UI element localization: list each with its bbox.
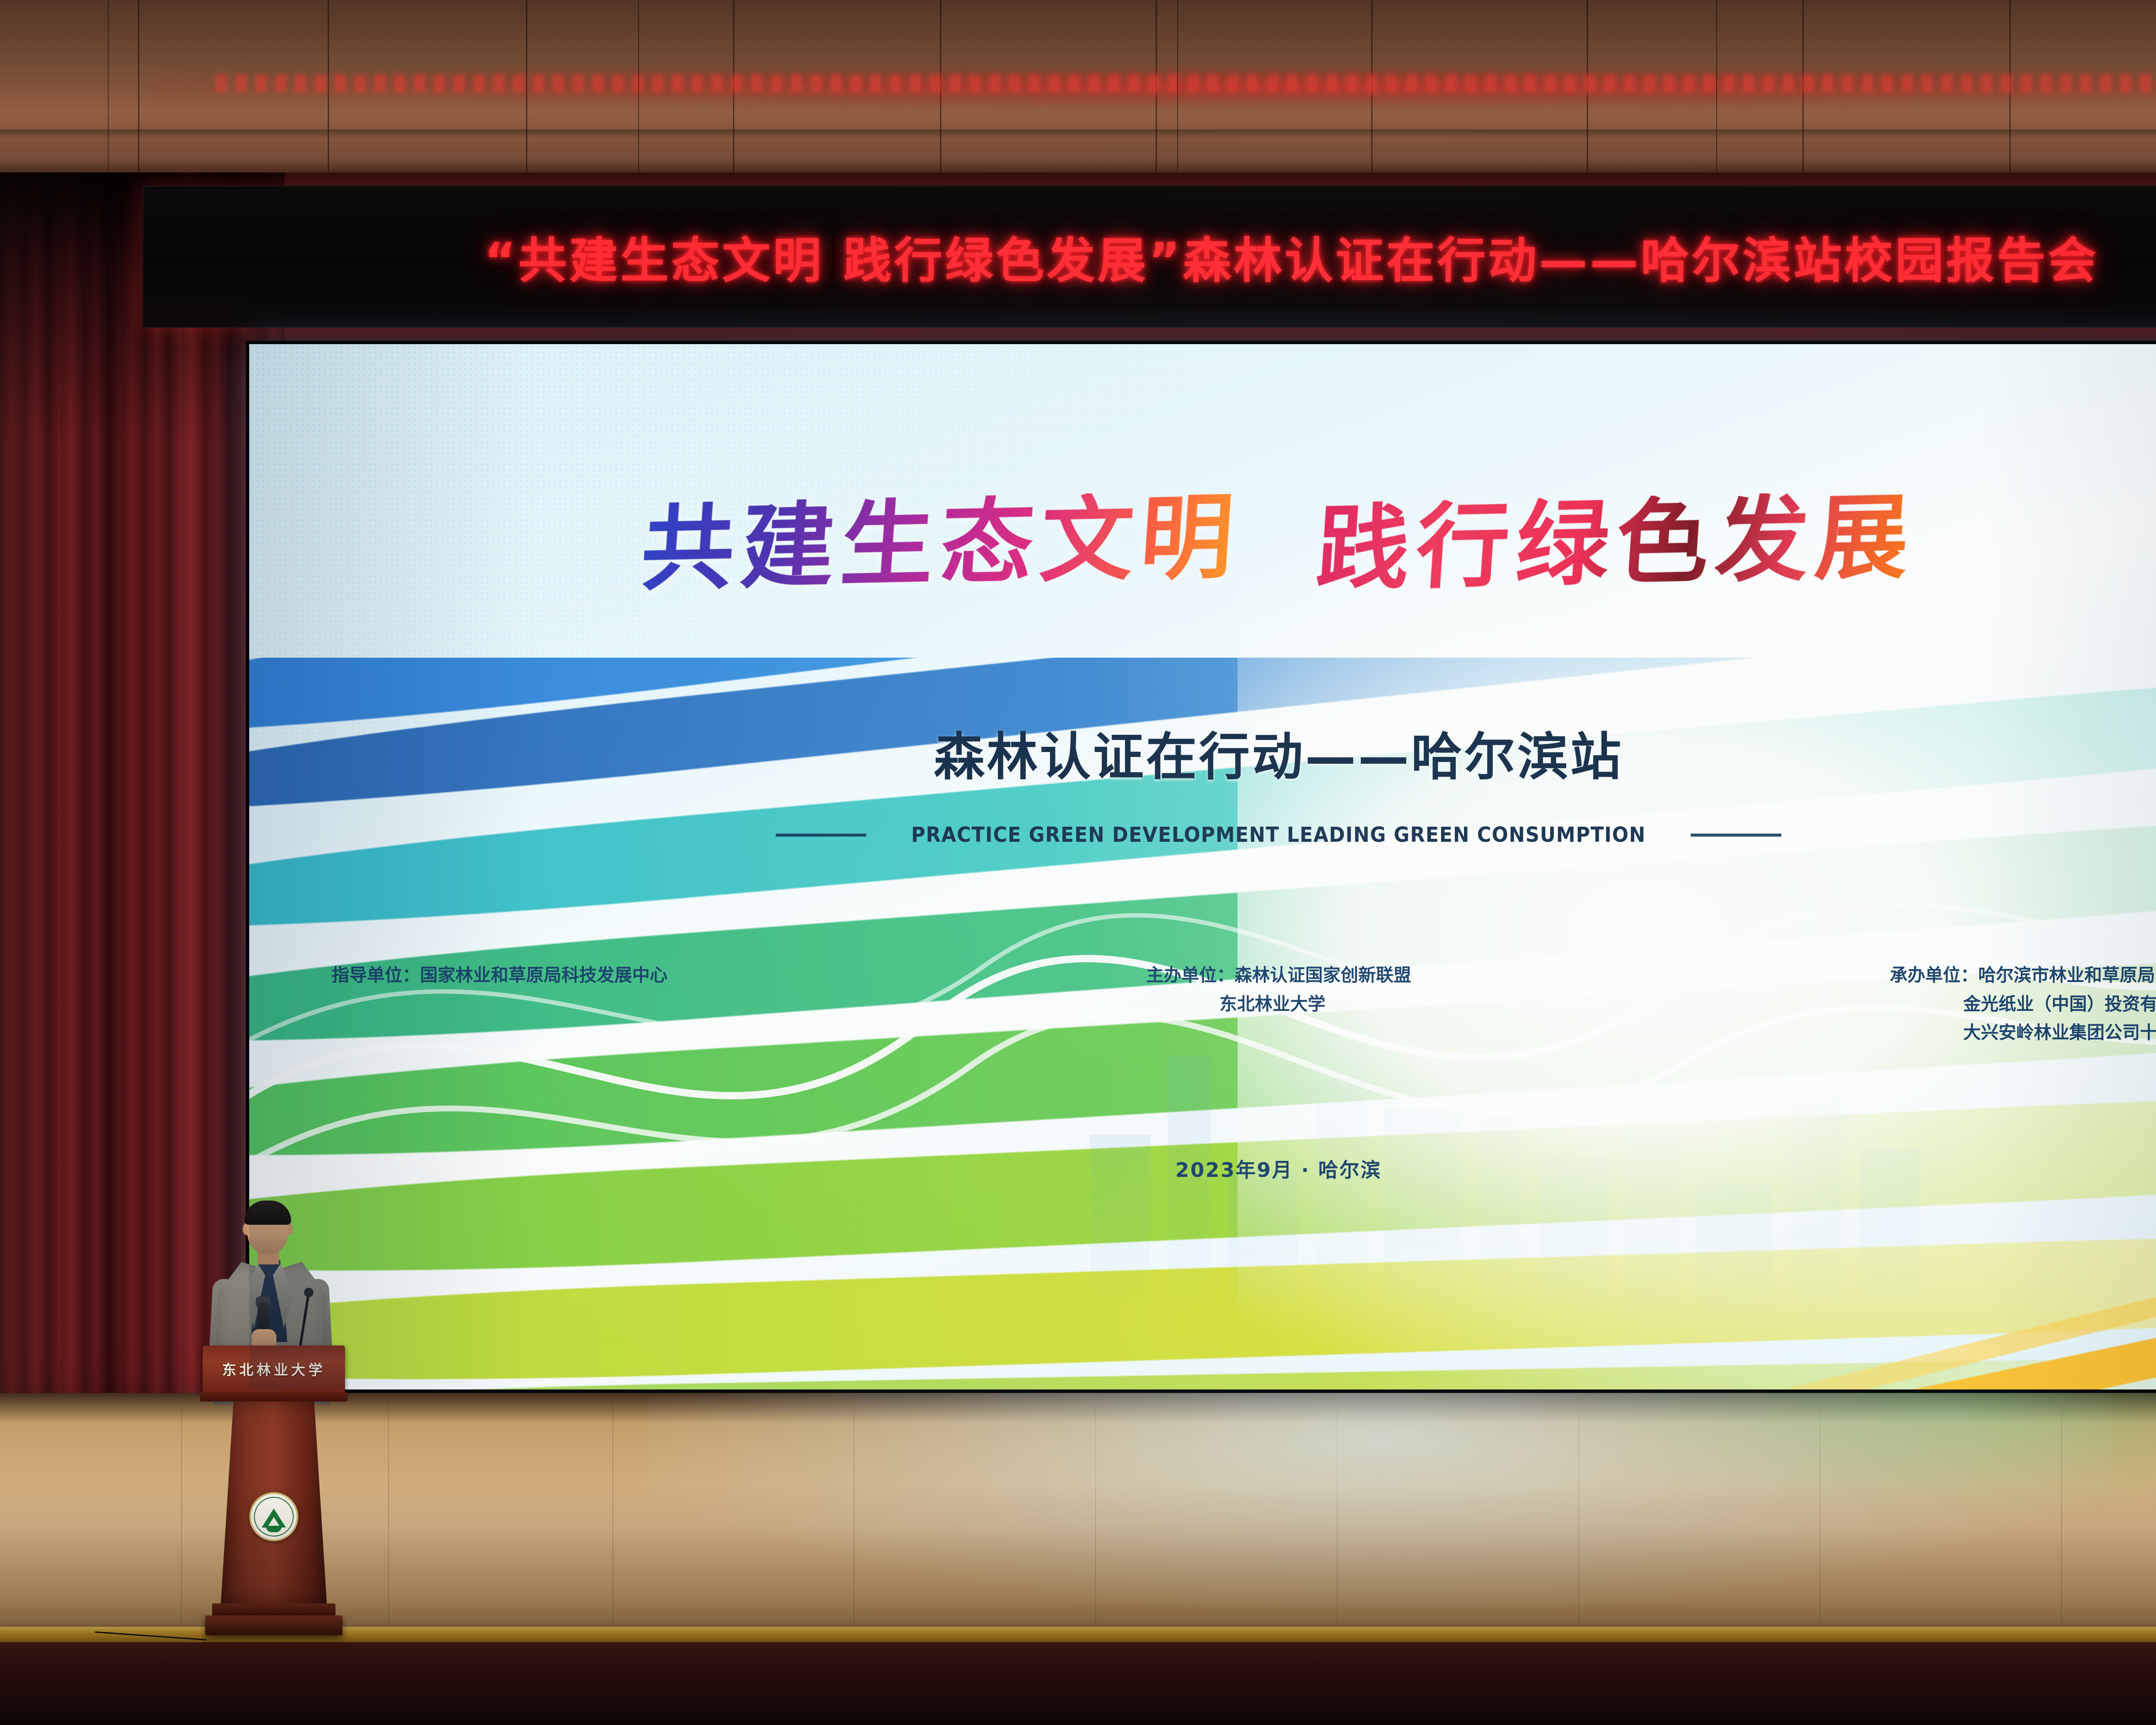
organizer-group-guidance: 指导单位：国家林业和草原局科技发展中心	[332, 961, 667, 989]
ceiling-wood-panels	[0, 0, 2156, 181]
organizer-group-organizer: 承办单位：哈尔滨市林业和草原局 金光纸业（中国）投资有限公司 大兴安岭林业集团公…	[1890, 961, 2156, 1047]
organizer-name: 国家林业和草原局科技发展中心	[420, 965, 667, 985]
calligraphy-left: 共建生态文明	[639, 490, 1244, 596]
university-crest-icon	[249, 1492, 298, 1541]
organizer-name: 大兴安岭林业集团公司十八站林业局	[1890, 1018, 2156, 1047]
organizer-name: 东北林业大学	[1146, 990, 1411, 1018]
organizer-name: 森林认证国家创新联盟	[1235, 965, 1411, 985]
organizer-role: 指导单位：	[332, 965, 420, 985]
organizer-name: 哈尔滨市林业和草原局	[1978, 965, 2155, 985]
rule-right	[1691, 834, 1781, 837]
auditorium-stage-scene: “共建生态文明 践行绿色发展”森林认证在行动——哈尔滨站校园报告会	[0, 0, 2156, 1725]
podium-university-name: 东北林业大学	[203, 1358, 345, 1379]
calligraphy-right: 践行绿色发展	[1314, 490, 1919, 596]
organizer-role: 主办单位：	[1146, 965, 1235, 985]
podium-lip	[200, 1392, 348, 1402]
led-banner-text: “共建生态文明 践行绿色发展”森林认证在行动——哈尔滨站校园报告会	[144, 222, 2156, 292]
slide-organizers: 指导单位：国家林业和草原局科技发展中心 主办单位：森林认证国家创新联盟 东北林业…	[332, 961, 2156, 1047]
slide-dateline: 2023年9月 · 哈尔滨	[249, 1154, 2156, 1183]
organizer-role: 承办单位：	[1890, 965, 1978, 985]
projection-screen: 共建生态文明 践行绿色发展 森林认证在行动——哈尔滨站 PRACTICE GRE…	[246, 341, 2156, 1393]
lectern-podium: 东北林业大学	[203, 1345, 345, 1647]
slide-subtitle-en: PRACTICE GREEN DEVELOPMENT LEADING GREEN…	[911, 823, 1646, 847]
ceiling-led-reflection-text	[216, 74, 2156, 92]
presentation-slide: 共建生态文明 践行绿色发展 森林认证在行动——哈尔滨站 PRACTICE GRE…	[249, 344, 2156, 1389]
rule-left	[776, 834, 866, 837]
podium-base-lower	[205, 1615, 342, 1635]
organizer-name: 金光纸业（中国）投资有限公司	[1890, 990, 2156, 1018]
slide-calligraphy-title: 共建生态文明 践行绿色发展	[363, 417, 2156, 668]
led-banner: “共建生态文明 践行绿色发展”森林认证在行动——哈尔滨站校园报告会	[142, 185, 2156, 328]
slide-subtitle-cn: 森林认证在行动——哈尔滨站	[249, 715, 2156, 789]
microphone-stand-head	[304, 1288, 313, 1297]
slide-subtitle-en-row: PRACTICE GREEN DEVELOPMENT LEADING GREEN…	[249, 823, 2156, 847]
stage-apron	[0, 1642, 2156, 1725]
stage-light-pool	[647, 1393, 2113, 1609]
organizer-group-host: 主办单位：森林认证国家创新联盟 东北林业大学	[1146, 961, 1411, 1018]
speaker-hair	[244, 1201, 291, 1225]
ceiling-truss	[0, 129, 2156, 137]
podium-base-upper	[212, 1603, 335, 1616]
